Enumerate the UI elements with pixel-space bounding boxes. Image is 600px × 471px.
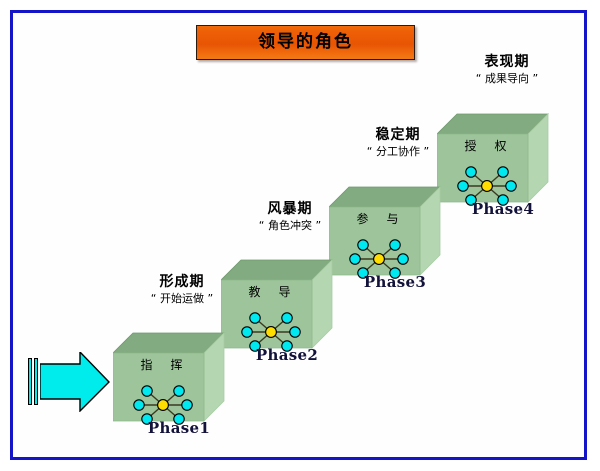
phase-label-4: Phase4 — [448, 200, 558, 218]
phase-caption-4: 表现期 “ 成果导向 ” — [442, 55, 572, 85]
phase-label-1: Phase1 — [124, 419, 234, 437]
phase-caption-1: 形成期 “ 开始运做 ” — [117, 275, 247, 305]
phase-stage-name-3: 稳定期 — [333, 128, 463, 144]
phase-label-3: Phase3 — [340, 273, 450, 291]
phase-caption-2: 风暴期 “ 角色冲突 ” — [225, 202, 355, 232]
phase-stage-quote-4: “ 成果导向 ” — [442, 73, 572, 85]
phase-stage-name-2: 风暴期 — [225, 202, 355, 218]
arrow-body-icon — [40, 352, 110, 412]
diagram-canvas: 领导的角色 授 权 — [0, 0, 600, 471]
title-text: 领导的角色 — [258, 34, 353, 51]
phase-stage-quote-3: “ 分工协作 ” — [333, 146, 463, 158]
phase-stage-quote-1: “ 开始运做 ” — [117, 293, 247, 305]
phase-stage-name-1: 形成期 — [117, 275, 247, 291]
title-banner: 领导的角色 — [196, 25, 415, 60]
arrow-tail-stripe-1 — [28, 358, 32, 405]
phase-role-1: 指 挥 — [113, 359, 213, 371]
phase-caption-3: 稳定期 “ 分工协作 ” — [333, 128, 463, 158]
phase-stage-name-4: 表现期 — [442, 55, 572, 71]
phase-label-2: Phase2 — [232, 346, 342, 364]
arrow-tail-stripe-2 — [34, 358, 38, 405]
start-arrow — [28, 352, 110, 422]
phase-stage-quote-2: “ 角色冲突 ” — [225, 220, 355, 232]
